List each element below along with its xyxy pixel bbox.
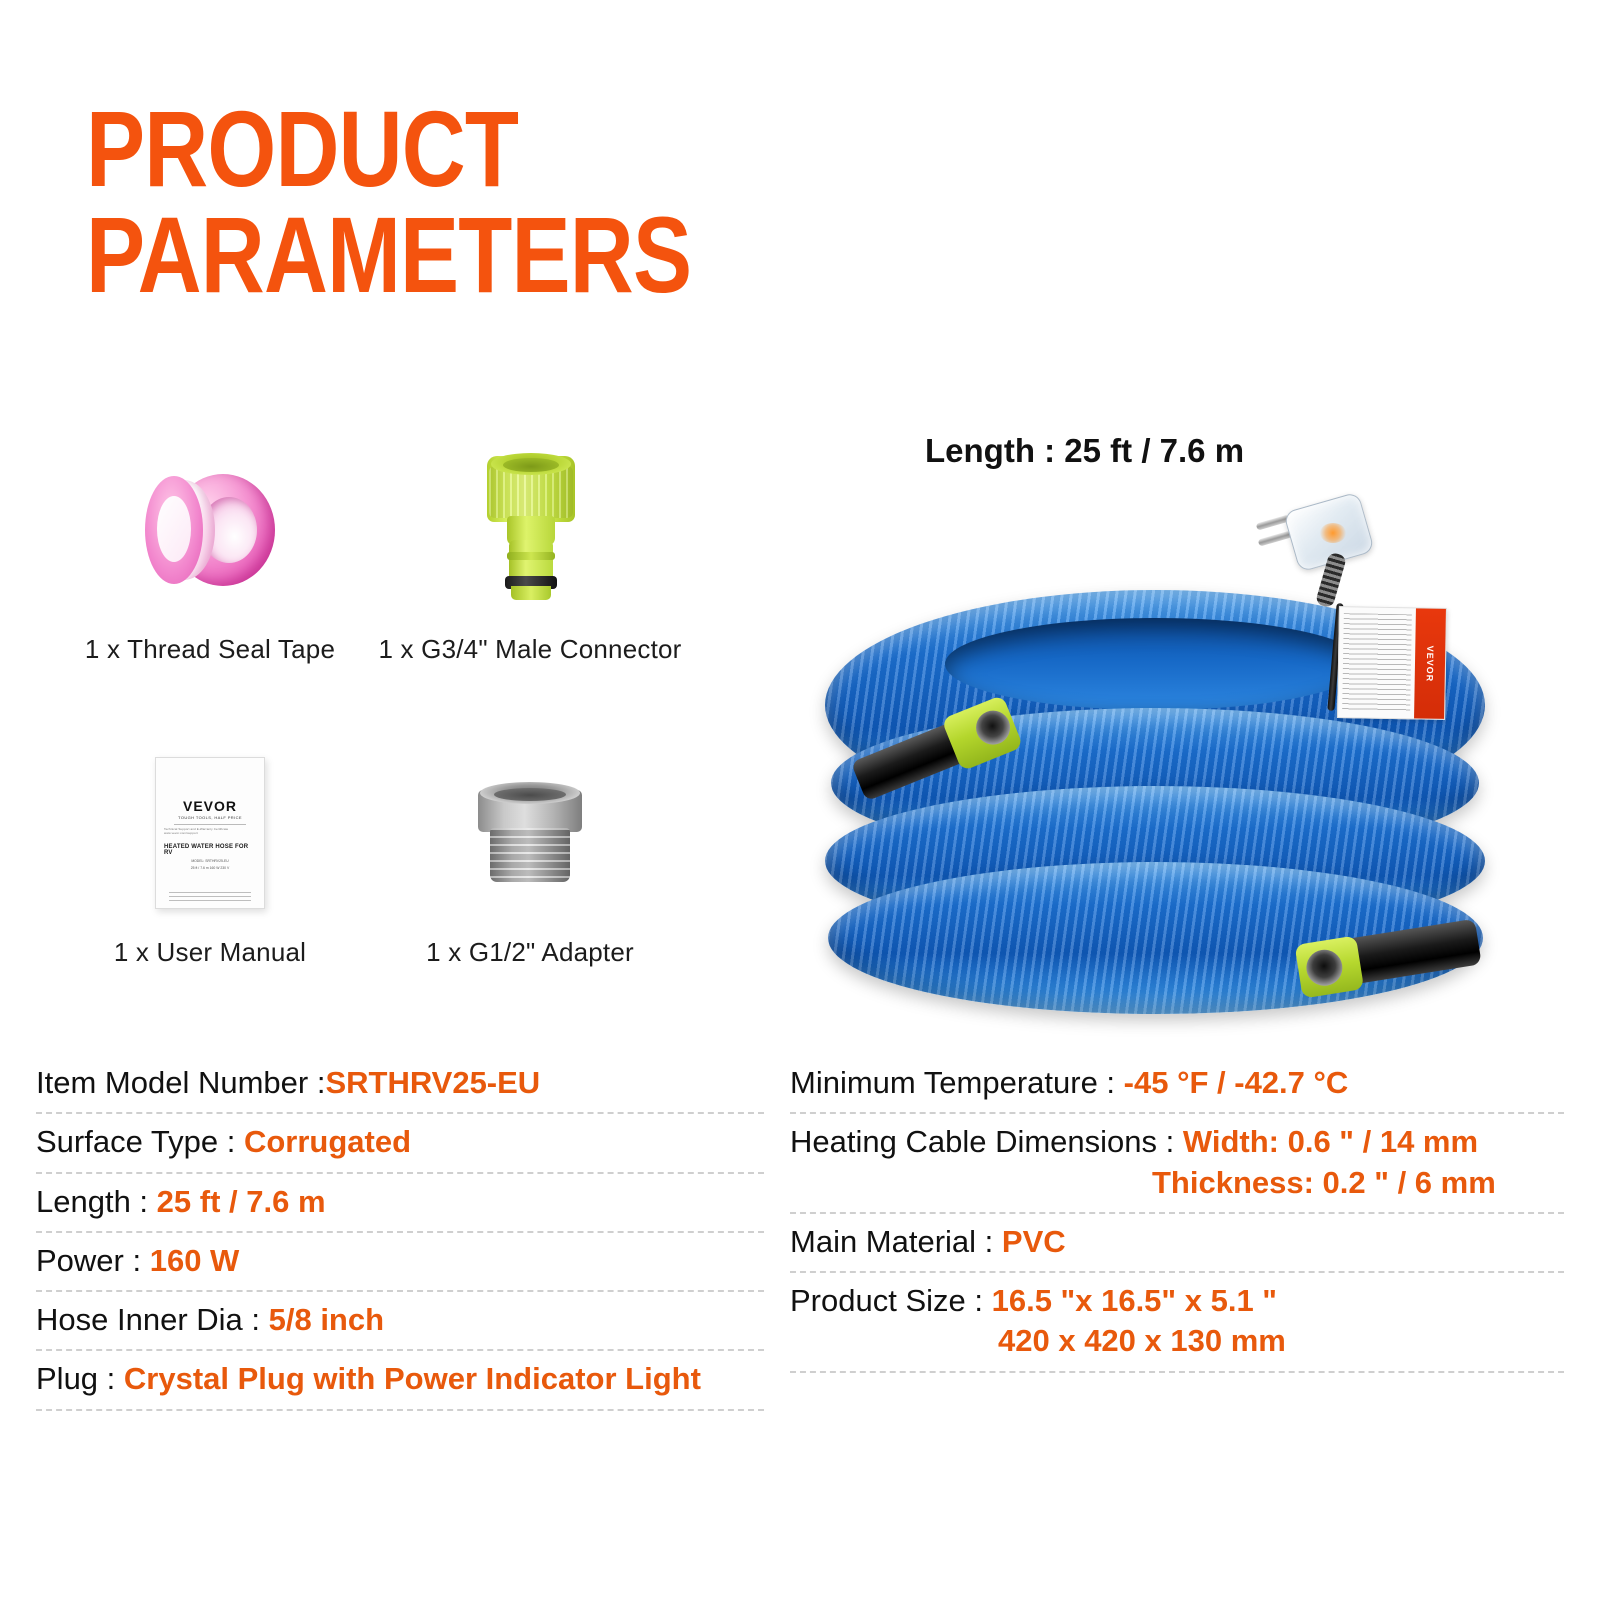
spec-row: Heating Cable Dimensions : Width: 0.6 " …: [790, 1114, 1564, 1212]
spec-value: PVC: [1002, 1224, 1066, 1259]
spec-value-secondary: Thickness: 0.2 " / 6 mm: [790, 1163, 1564, 1203]
spec-label: Item Model Number :: [36, 1065, 325, 1100]
spec-label: Power :: [36, 1243, 150, 1278]
hose-product-photo: VEVOR: [790, 495, 1580, 1015]
spec-row: Plug : Crystal Plug with Power Indicator…: [36, 1351, 764, 1408]
spec-row: Minimum Temperature : -45 °F / -42.7 °C: [790, 1055, 1564, 1112]
accessory-male-connector: 1 x G3/4" Male Connector: [360, 440, 700, 665]
spec-label: Product Size :: [790, 1283, 992, 1318]
page-title-line-1: PRODUCT: [86, 96, 709, 202]
spec-value: SRTHRV25-EU: [325, 1065, 540, 1100]
adapter-icon: [474, 743, 586, 923]
accessory-label: 1 x G3/4" Male Connector: [378, 634, 681, 665]
spec-label: Hose Inner Dia :: [36, 1302, 269, 1337]
accessory-label: 1 x User Manual: [114, 937, 306, 968]
manual-slogan: TOUGH TOOLS, HALF PRICE: [178, 815, 242, 820]
hose-length-caption: Length : 25 ft / 7.6 m: [925, 432, 1244, 470]
accessory-thread-seal-tape: 1 x Thread Seal Tape: [60, 440, 360, 665]
spec-value: -45 °F / -42.7 °C: [1124, 1065, 1349, 1100]
spec-value-secondary: 420 x 420 x 130 mm: [790, 1321, 1564, 1361]
product-spec-label: VEVOR: [1337, 606, 1447, 720]
accessory-adapter: 1 x G1/2" Adapter: [360, 743, 700, 968]
spec-label: Length :: [36, 1184, 157, 1219]
spec-value: Width: 0.6 " / 14 mm: [1183, 1124, 1478, 1159]
manual-spec-line: 25 ft / 7.6 m 160 W 230 V: [191, 866, 229, 870]
manual-support-line: Technical Support and E-Warranty Certifi…: [164, 827, 256, 835]
manual-product-title: HEATED WATER HOSE FOR RV: [164, 844, 256, 856]
spec-row: Hose Inner Dia : 5/8 inch: [36, 1292, 764, 1349]
page-title: PRODUCT PARAMETERS: [86, 96, 846, 308]
power-indicator-light-icon: [1320, 523, 1346, 543]
accessories-grid: 1 x Thread Seal Tape 1 x G3/4" Male Conn…: [60, 440, 760, 968]
spec-row: Main Material : PVC: [790, 1214, 1564, 1271]
accessories-row-1: 1 x Thread Seal Tape 1 x G3/4" Male Conn…: [60, 440, 760, 665]
power-plug-assembly: VEVOR: [1220, 495, 1480, 725]
manual-paragraph-block: [169, 892, 251, 902]
spec-label: Surface Type :: [36, 1124, 244, 1159]
label-brand: VEVOR: [1425, 645, 1436, 682]
accessory-label: 1 x Thread Seal Tape: [85, 634, 335, 665]
specs-right-column: Minimum Temperature : -45 °F / -42.7 °C …: [790, 1055, 1564, 1373]
spec-value: 160 W: [150, 1243, 240, 1278]
spec-row: Length : 25 ft / 7.6 m: [36, 1174, 764, 1231]
spec-row: Power : 160 W: [36, 1233, 764, 1290]
spec-row: Product Size : 16.5 "x 16.5" x 5.1 "420 …: [790, 1273, 1564, 1371]
spec-separator: [790, 1371, 1564, 1373]
accessories-row-2: VEVOR TOUGH TOOLS, HALF PRICE Technical …: [60, 743, 760, 968]
accessory-user-manual: VEVOR TOUGH TOOLS, HALF PRICE Technical …: [60, 743, 360, 968]
specs-left-column: Item Model Number :SRTHRV25-EU Surface T…: [36, 1055, 764, 1411]
spec-value: 5/8 inch: [269, 1302, 384, 1337]
accessory-label: 1 x G1/2" Adapter: [426, 937, 634, 968]
thread-seal-tape-icon: [145, 440, 275, 620]
spec-separator: [36, 1409, 764, 1411]
plug-pin: [1258, 530, 1293, 546]
spec-value: 16.5 "x 16.5" x 5.1 ": [992, 1283, 1277, 1318]
spec-value: 25 ft / 7.6 m: [157, 1184, 326, 1219]
spec-row: Item Model Number :SRTHRV25-EU: [36, 1055, 764, 1112]
spec-row: Surface Type : Corrugated: [36, 1114, 764, 1171]
spec-value: Corrugated: [244, 1124, 411, 1159]
male-connector-icon: [477, 440, 583, 620]
spec-label: Heating Cable Dimensions :: [790, 1124, 1183, 1159]
user-manual-icon: VEVOR TOUGH TOOLS, HALF PRICE Technical …: [155, 743, 265, 923]
spec-label: Plug :: [36, 1361, 124, 1396]
manual-model-line: MODEL: SRTHRV25-EU: [191, 859, 228, 863]
manual-brand: VEVOR: [183, 798, 237, 814]
spec-value: Crystal Plug with Power Indicator Light: [124, 1361, 701, 1396]
spec-label: Minimum Temperature :: [790, 1065, 1124, 1100]
spec-label: Main Material :: [790, 1224, 1002, 1259]
page-title-line-2: PARAMETERS: [86, 202, 709, 308]
